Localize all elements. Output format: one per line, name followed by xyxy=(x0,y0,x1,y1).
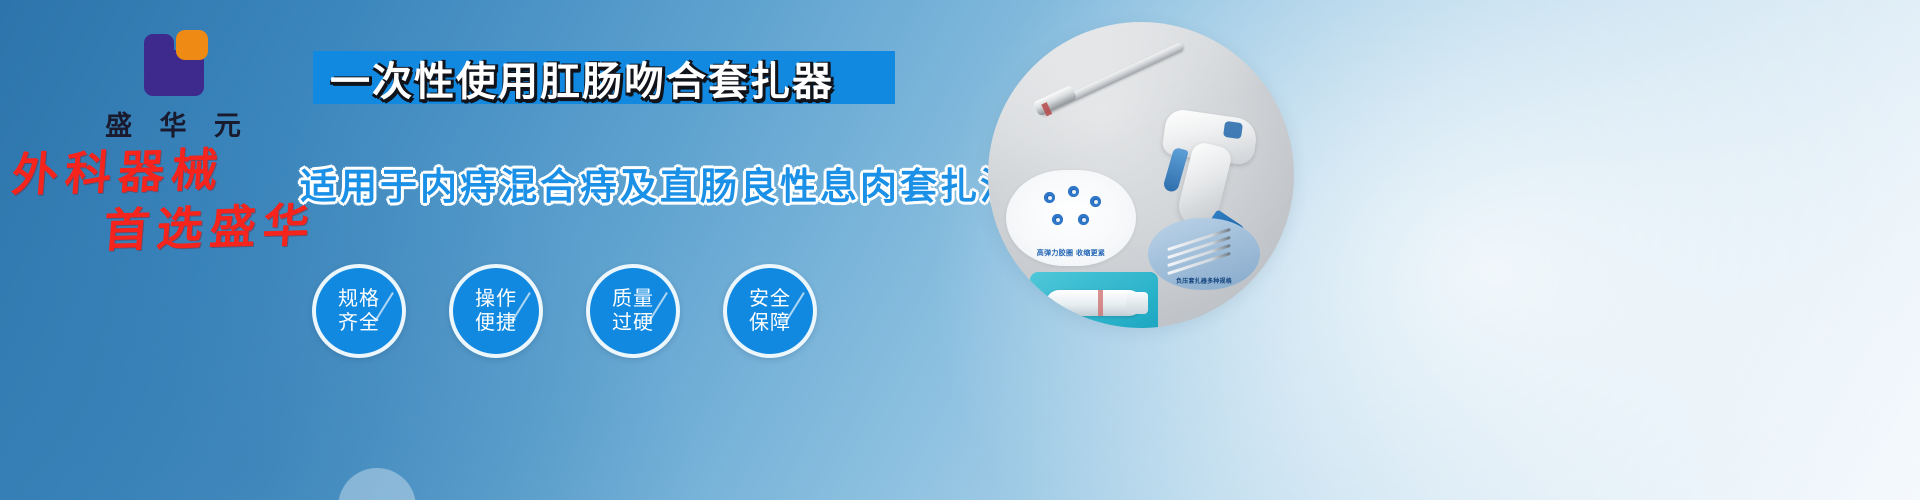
cyan-product-inset xyxy=(1030,272,1158,328)
device-button-icon xyxy=(1223,121,1243,139)
rubber-band-icon xyxy=(1044,192,1055,203)
feature-badge-4[interactable]: 安全 保障 xyxy=(723,264,817,358)
slogan-line-1: 外科器械 xyxy=(10,142,227,202)
promo-banner: 盛 华 元 外科器械 首选盛华 一次性使用肛肠吻合套扎器 适用于内痔混合痔及直肠… xyxy=(0,0,1920,500)
page-title: 一次性使用肛肠吻合套扎器 xyxy=(330,51,834,104)
feature-badge-2-line1: 操作 xyxy=(475,287,517,311)
feature-badge-1[interactable]: 规格 齐全 xyxy=(312,264,406,358)
rubber-bands-caption: 高弹力胶圈 收缩更紧 xyxy=(1006,248,1136,258)
rubber-band-icon xyxy=(1090,196,1101,207)
brand-name: 盛 华 元 xyxy=(78,104,268,143)
feature-badge-2-line2: 便捷 xyxy=(475,311,517,335)
feature-badge-3-line2: 过硬 xyxy=(612,311,654,335)
feature-badge-1-line1: 规格 xyxy=(338,287,380,311)
slogan-line-2: 首选盛华 xyxy=(101,198,318,258)
cyan-product-cap xyxy=(1126,292,1148,314)
probes-inset: 负压套扎器多种规格 xyxy=(1148,218,1260,290)
brand-logo[interactable]: 盛 华 元 xyxy=(78,22,268,143)
rubber-bands-inset: 高弹力胶圈 收缩更紧 xyxy=(1006,170,1136,266)
rubber-band-icon xyxy=(1068,186,1079,197)
feature-badges: 规格 齐全 操作 便捷 质量 过硬 安全 保障 xyxy=(312,264,817,358)
probes-caption: 负压套扎器多种规格 xyxy=(1148,276,1260,285)
rubber-band-icon xyxy=(1078,214,1089,225)
logo-block-orange-icon xyxy=(176,30,208,60)
feature-badge-4-line1: 安全 xyxy=(749,287,791,311)
feature-badge-3[interactable]: 质量 过硬 xyxy=(586,264,680,358)
feature-badge-4-line2: 保障 xyxy=(749,311,791,335)
shenghuayuan-blocks-logo-icon xyxy=(128,22,218,100)
feature-badge-3-line1: 质量 xyxy=(612,287,654,311)
product-photo: 高弹力胶圈 收缩更紧 负压套扎器多种规格 xyxy=(988,22,1294,328)
subtitle: 适用于内痔混合痔及直肠良性息肉套扎治疗 xyxy=(300,156,1060,210)
feature-badge-1-line2: 齐全 xyxy=(338,311,380,335)
decorative-circle xyxy=(338,468,416,500)
rubber-band-icon xyxy=(1052,214,1063,225)
feature-badge-2[interactable]: 操作 便捷 xyxy=(449,264,543,358)
calligraphy-slogan: 外科器械 首选盛华 xyxy=(5,140,323,261)
